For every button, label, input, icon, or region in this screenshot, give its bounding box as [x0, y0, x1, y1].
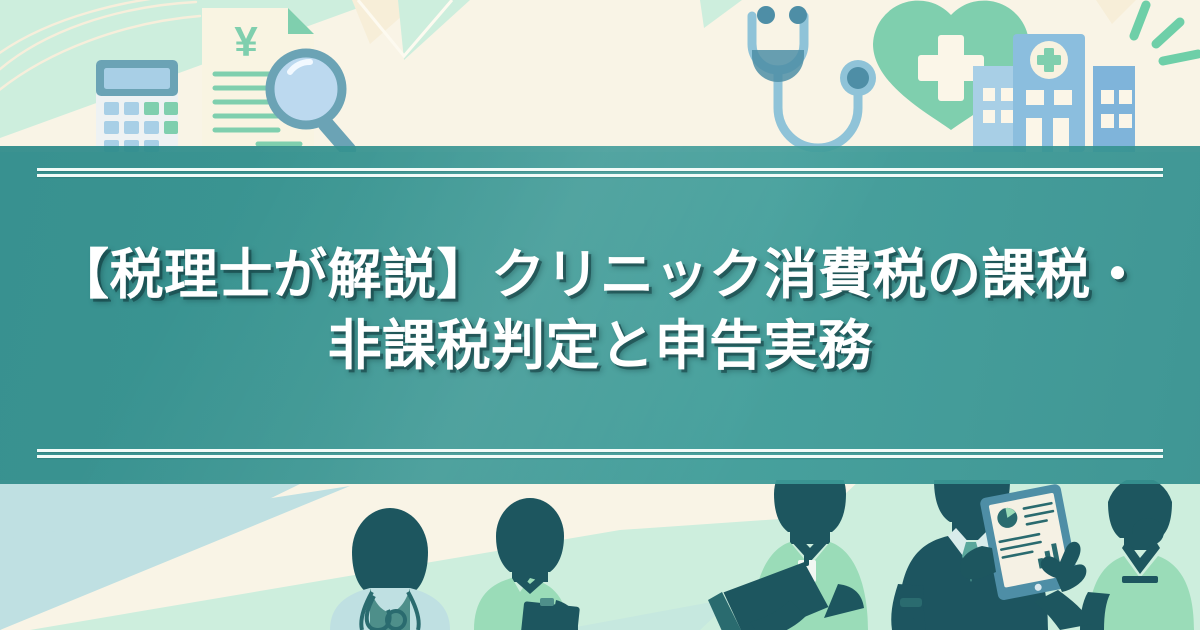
ogp-card: ¥: [0, 0, 1200, 630]
title-line-2: 非課税判定と申告実務: [328, 311, 873, 382]
top-illustration: ¥: [0, 0, 1200, 152]
calculator-icon: [96, 60, 178, 152]
svg-text:¥: ¥: [234, 18, 258, 65]
divider-top: [37, 168, 1163, 177]
page-title: 【税理士が解説】クリニック消費税の課税・ 非課税判定と申告実務: [0, 196, 1200, 426]
bottom-illustration: [0, 480, 1200, 630]
divider-bottom: [37, 449, 1163, 458]
title-line-1: 【税理士が解説】クリニック消費税の課税・: [55, 240, 1145, 311]
